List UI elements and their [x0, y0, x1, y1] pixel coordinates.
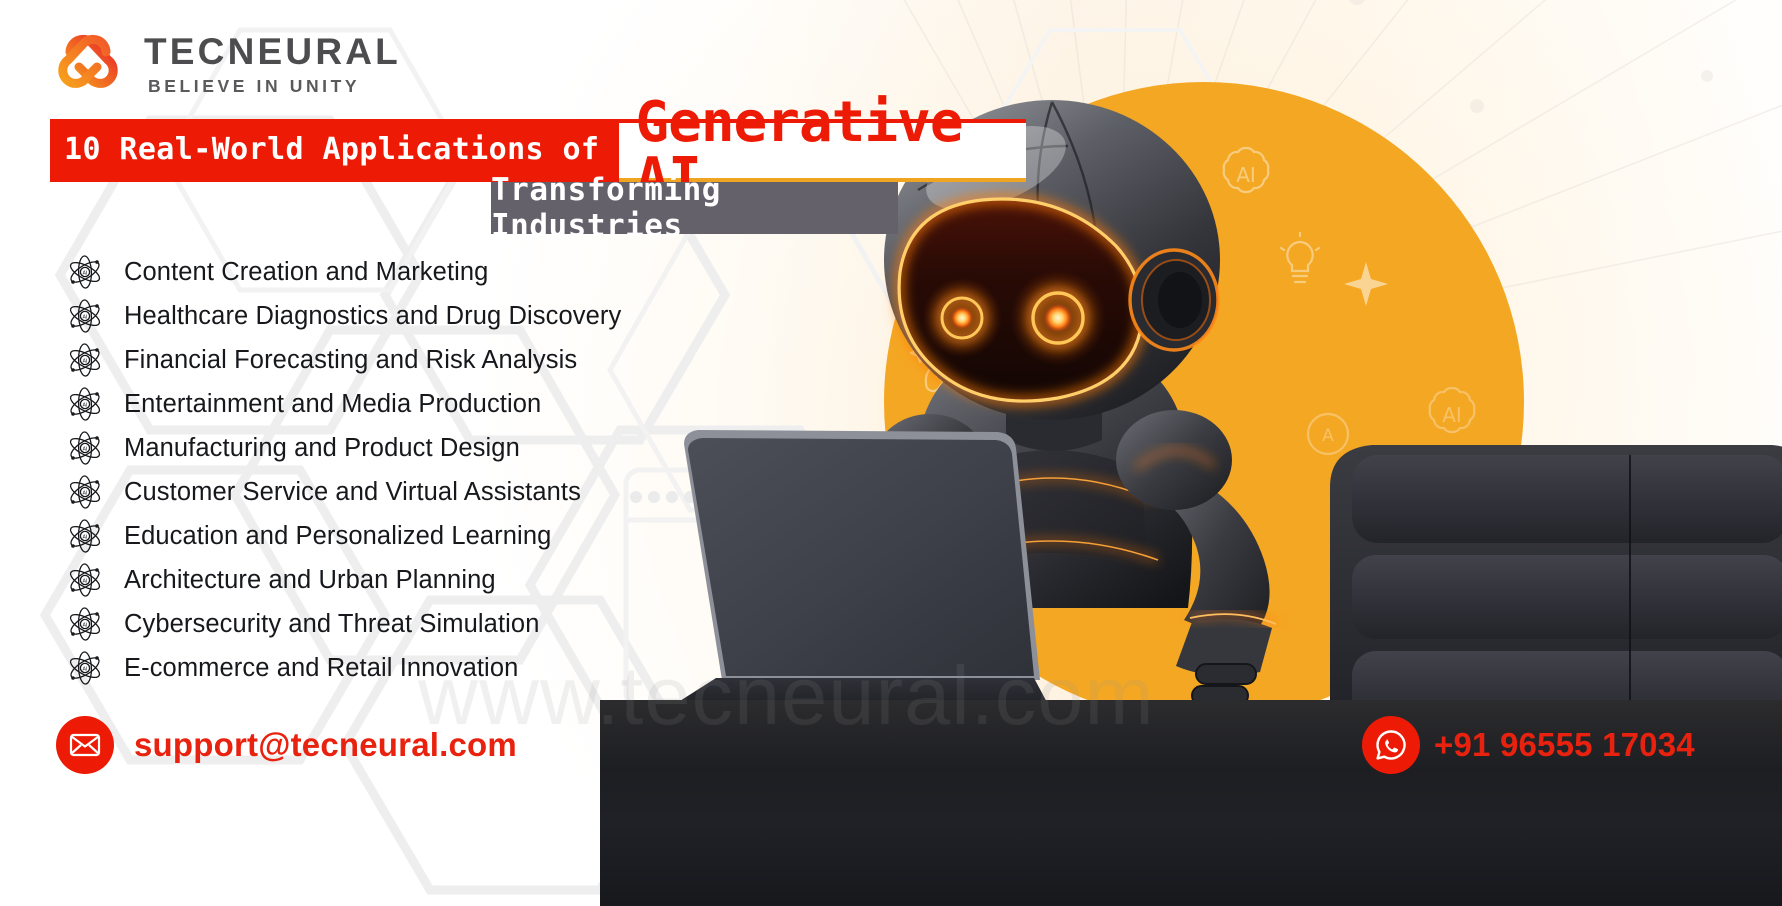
- brand-name: TECNEURAL: [144, 33, 401, 71]
- phone-contact[interactable]: +91 96555 17034: [1362, 716, 1695, 774]
- list-item-label: Entertainment and Media Production: [124, 390, 541, 419]
- list-item: AI Manufacturing and Product Design: [66, 426, 706, 470]
- list-item-label: Content Creation and Marketing: [124, 258, 488, 287]
- banner-canvas: AI AI AI AI: [0, 0, 1782, 906]
- list-item-label: Architecture and Urban Planning: [124, 566, 496, 595]
- list-item: AI Entertainment and Media Production: [66, 382, 706, 426]
- ai-atom-icon: AI: [66, 563, 104, 597]
- ai-atom-icon: AI: [66, 475, 104, 509]
- brand-logo[interactable]: TECNEURAL BELIEVE IN UNITY: [56, 28, 401, 102]
- list-item: AI Architecture and Urban Planning: [66, 558, 706, 602]
- list-item-label: Financial Forecasting and Risk Analysis: [124, 346, 577, 375]
- list-item: AI Healthcare Diagnostics and Drug Disco…: [66, 294, 706, 338]
- list-item: AI Cybersecurity and Threat Simulation: [66, 602, 706, 646]
- list-item: AI Financial Forecasting and Risk Analys…: [66, 338, 706, 382]
- title-row-secondary: Transforming Industries: [50, 182, 1026, 234]
- title-block: 10 Real-World Applications of Generative…: [50, 119, 1026, 234]
- list-item-label: Customer Service and Virtual Assistants: [124, 478, 581, 507]
- svg-text:AI: AI: [83, 534, 88, 540]
- ai-atom-icon: AI: [66, 255, 104, 289]
- title-subhead: Transforming Industries: [491, 182, 898, 234]
- ai-atom-icon: AI: [66, 343, 104, 377]
- email-contact[interactable]: support@tecneural.com: [56, 716, 517, 774]
- brand-tagline: BELIEVE IN UNITY: [148, 76, 401, 97]
- applications-list: AI Content Creation and Marketing AI: [66, 250, 706, 690]
- list-item-label: E-commerce and Retail Innovation: [124, 654, 518, 683]
- whatsapp-icon: [1362, 716, 1420, 774]
- envelope-icon: [56, 716, 114, 774]
- list-item-label: Cybersecurity and Threat Simulation: [124, 610, 539, 639]
- ai-atom-icon: AI: [66, 387, 104, 421]
- list-item-label: Education and Personalized Learning: [124, 522, 551, 551]
- ai-atom-icon: AI: [66, 607, 104, 641]
- list-item: AI Customer Service and Virtual Assistan…: [66, 470, 706, 514]
- phone-number[interactable]: +91 96555 17034: [1434, 726, 1695, 764]
- svg-text:AI: AI: [83, 358, 88, 364]
- svg-text:AI: AI: [83, 402, 88, 408]
- svg-text:AI: AI: [83, 622, 88, 628]
- list-item: AI E-commerce and Retail Innovation: [66, 646, 706, 690]
- list-item: AI Content Creation and Marketing: [66, 250, 706, 294]
- ai-atom-icon: AI: [66, 299, 104, 333]
- interlocking-loops-icon: [56, 28, 128, 102]
- list-item-label: Healthcare Diagnostics and Drug Discover…: [124, 302, 621, 331]
- svg-text:AI: AI: [83, 578, 88, 584]
- svg-text:AI: AI: [83, 314, 88, 320]
- svg-text:AI: AI: [83, 490, 88, 496]
- svg-text:AI: AI: [83, 446, 88, 452]
- title-spacer: [50, 182, 491, 234]
- ai-atom-icon: AI: [66, 651, 104, 685]
- email-address[interactable]: support@tecneural.com: [134, 726, 517, 764]
- ai-atom-icon: AI: [66, 519, 104, 553]
- svg-text:AI: AI: [83, 270, 88, 276]
- list-item-label: Manufacturing and Product Design: [124, 434, 520, 463]
- list-item: AI Education and Personalized Learning: [66, 514, 706, 558]
- svg-text:AI: AI: [83, 666, 88, 672]
- ai-atom-icon: AI: [66, 431, 104, 465]
